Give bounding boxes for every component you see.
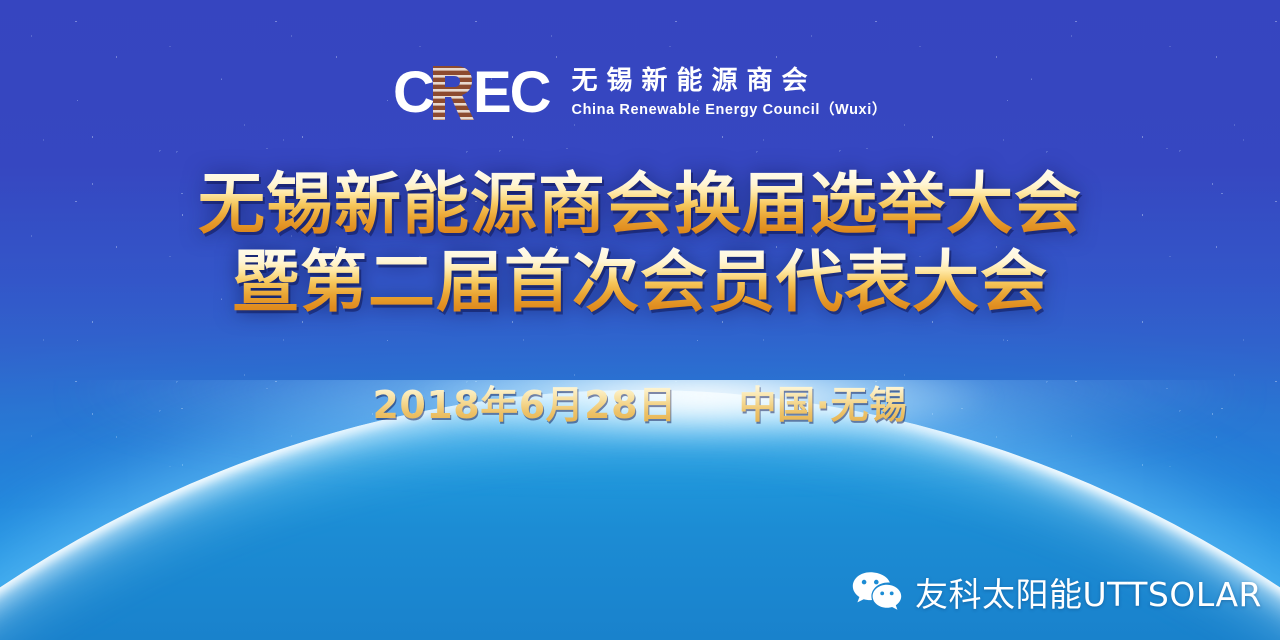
event-meta: 2018年6月28日 中国·无锡	[0, 374, 1280, 429]
wechat-watermark: 友科太阳能UTTSOLAR	[851, 568, 1262, 616]
crec-english-name: China Renewable Energy Council（Wuxi）	[572, 98, 887, 119]
title-line-1: 无锡新能源商会换届选举大会	[0, 166, 1280, 244]
crec-letter-c1: C	[393, 64, 433, 122]
crec-wordmark: C	[393, 64, 549, 122]
crec-letter-c2: C	[510, 64, 550, 122]
crec-logo: C	[0, 64, 1280, 122]
page-title: 无锡新能源商会换届选举大会 暨第二届首次会员代表大会	[0, 166, 1280, 321]
crec-chinese-name: 无锡新能源商会	[572, 67, 887, 95]
crec-logo-text: 无锡新能源商会 China Renewable Energy Council（W…	[572, 67, 887, 119]
wechat-icon	[851, 570, 903, 614]
crec-letter-e: E	[473, 64, 510, 122]
striped-letter-r-icon	[429, 64, 475, 122]
watermark-label: 友科太阳能UTTSOLAR	[915, 568, 1262, 616]
event-location: 中国·无锡	[739, 374, 908, 429]
event-date: 2018年6月28日	[372, 374, 676, 429]
conference-banner: C	[0, 0, 1280, 640]
title-line-2: 暨第二届首次会员代表大会	[0, 244, 1280, 322]
